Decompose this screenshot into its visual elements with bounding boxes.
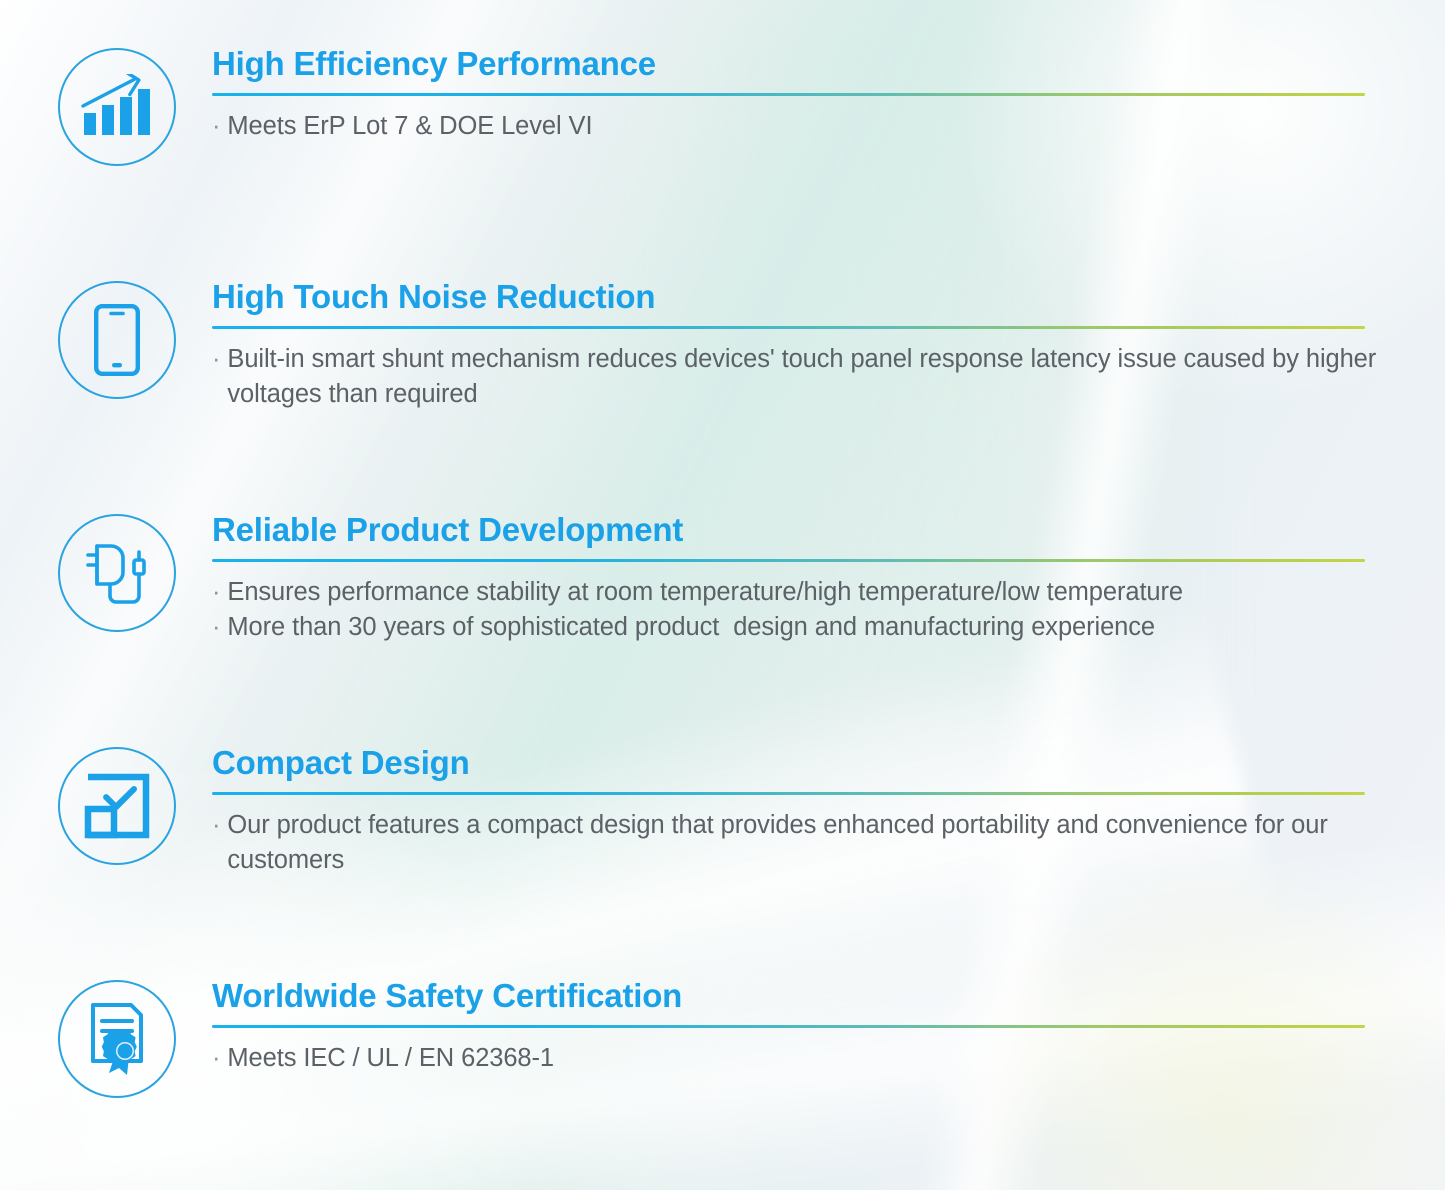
bullet-marker: · xyxy=(212,1041,220,1076)
bullet-item: · Meets ErP Lot 7 & DOE Level VI xyxy=(212,109,1419,144)
bullet-item: · Built-in smart shunt mechanism reduces… xyxy=(212,342,1419,412)
feature-bullets: · Meets IEC / UL / EN 62368-1 xyxy=(212,1041,1419,1076)
feature-item-high-touch-noise-reduction: High Touch Noise Reduction · Built-in sm… xyxy=(0,279,1445,412)
feature-icon-container xyxy=(55,279,179,399)
bullet-marker: · xyxy=(212,610,220,645)
feature-divider xyxy=(212,326,1365,329)
bullet-text: Meets ErP Lot 7 & DOE Level VI xyxy=(227,109,1419,144)
feature-title: Compact Design xyxy=(212,745,1419,782)
bar-chart-growth-icon xyxy=(58,48,176,166)
feature-divider xyxy=(212,1025,1365,1028)
feature-icon-container xyxy=(55,512,179,632)
feature-icon-container xyxy=(55,745,179,865)
bullet-item: · Meets IEC / UL / EN 62368-1 xyxy=(212,1041,1419,1076)
feature-item-worldwide-safety-certification: Worldwide Safety Certification · Meets I… xyxy=(0,978,1445,1098)
bullet-item: · Ensures performance stability at room … xyxy=(212,575,1419,610)
feature-title: Worldwide Safety Certification xyxy=(212,978,1419,1015)
feature-divider xyxy=(212,559,1365,562)
bullet-marker: · xyxy=(212,342,220,377)
bullet-text: More than 30 years of sophisticated prod… xyxy=(227,610,1419,645)
feature-icon-container xyxy=(55,46,179,166)
feature-title: High Touch Noise Reduction xyxy=(212,279,1419,316)
feature-body: Worldwide Safety Certification · Meets I… xyxy=(212,978,1445,1076)
bullet-text: Ensures performance stability at room te… xyxy=(227,575,1419,610)
feature-body: Reliable Product Development · Ensures p… xyxy=(212,512,1445,645)
feature-item-high-efficiency-performance: High Efficiency Performance · Meets ErP … xyxy=(0,46,1445,166)
bullet-text: Our product features a compact design th… xyxy=(227,808,1419,878)
feature-icon-container xyxy=(55,978,179,1098)
feature-list: High Efficiency Performance · Meets ErP … xyxy=(0,0,1445,1190)
bullet-item: · More than 30 years of sophisticated pr… xyxy=(212,610,1419,645)
feature-title: High Efficiency Performance xyxy=(212,46,1419,83)
certificate-award-icon xyxy=(58,980,176,1098)
feature-body: High Efficiency Performance · Meets ErP … xyxy=(212,46,1445,144)
bullet-marker: · xyxy=(212,808,220,843)
power-adapter-icon xyxy=(58,514,176,632)
feature-divider xyxy=(212,792,1365,795)
feature-body: Compact Design · Our product features a … xyxy=(212,745,1445,878)
feature-bullets: · Meets ErP Lot 7 & DOE Level VI xyxy=(212,109,1419,144)
feature-bullets: · Our product features a compact design … xyxy=(212,808,1419,878)
bullet-marker: · xyxy=(212,109,220,144)
feature-item-reliable-product-development: Reliable Product Development · Ensures p… xyxy=(0,512,1445,645)
bullet-text: Built-in smart shunt mechanism reduces d… xyxy=(227,342,1419,412)
feature-bullets: · Built-in smart shunt mechanism reduces… xyxy=(212,342,1419,412)
smartphone-icon xyxy=(58,281,176,399)
bullet-text: Meets IEC / UL / EN 62368-1 xyxy=(227,1041,1419,1076)
resize-compact-icon xyxy=(58,747,176,865)
feature-bullets: · Ensures performance stability at room … xyxy=(212,575,1419,645)
bullet-marker: · xyxy=(212,575,220,610)
feature-title: Reliable Product Development xyxy=(212,512,1419,549)
bullet-item: · Our product features a compact design … xyxy=(212,808,1419,878)
feature-divider xyxy=(212,93,1365,96)
feature-body: High Touch Noise Reduction · Built-in sm… xyxy=(212,279,1445,412)
feature-item-compact-design: Compact Design · Our product features a … xyxy=(0,745,1445,878)
